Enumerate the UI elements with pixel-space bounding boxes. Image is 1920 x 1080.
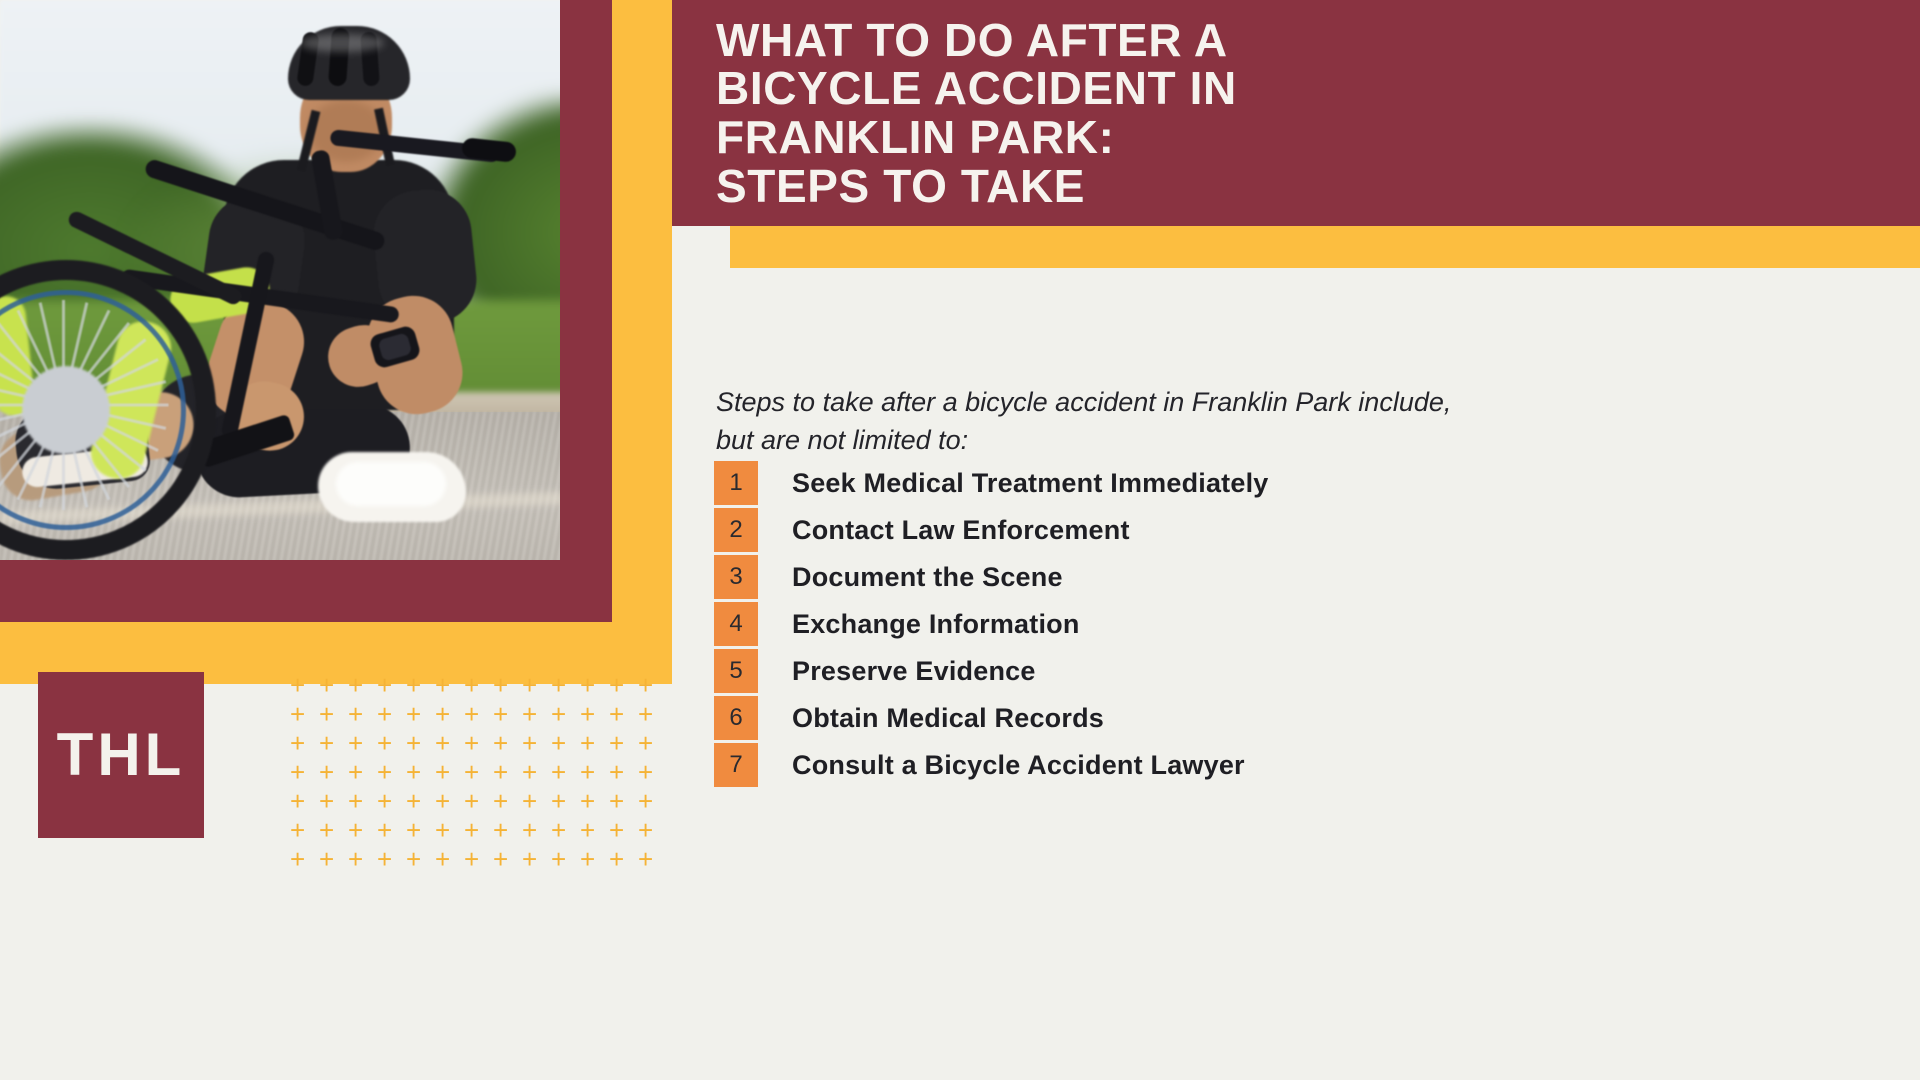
plus-glyph: + <box>348 701 363 727</box>
plus-glyph: + <box>580 701 595 727</box>
plus-glyph: + <box>609 759 624 785</box>
plus-glyph: + <box>522 730 537 756</box>
plus-glyph: + <box>435 788 450 814</box>
step-label: Seek Medical Treatment Immediately <box>792 468 1269 499</box>
page-title: WHAT TO DO AFTER ABICYCLE ACCIDENT INFRA… <box>716 16 1237 211</box>
plus-glyph: + <box>348 817 363 843</box>
plus-glyph: + <box>493 759 508 785</box>
intro-paragraph: Steps to take after a bicycle accident i… <box>716 383 1476 460</box>
plus-glyph: + <box>319 846 334 872</box>
plus-glyph: + <box>580 759 595 785</box>
plus-glyph: + <box>406 846 421 872</box>
thl-logo[interactable]: THL <box>38 672 204 838</box>
step-number-badge: 3 <box>714 555 758 599</box>
plus-glyph: + <box>290 672 305 698</box>
plus-glyph: + <box>522 672 537 698</box>
plus-glyph: + <box>609 672 624 698</box>
plus-glyph: + <box>435 759 450 785</box>
plus-glyph: + <box>522 759 537 785</box>
plus-glyph: + <box>319 817 334 843</box>
plus-glyph: + <box>638 788 653 814</box>
plus-glyph: + <box>435 817 450 843</box>
plus-glyph: + <box>435 730 450 756</box>
step-number-badge: 4 <box>714 602 758 646</box>
plus-glyph: + <box>609 846 624 872</box>
step-item[interactable]: 1Seek Medical Treatment Immediately <box>714 460 1814 506</box>
plus-glyph: + <box>464 846 479 872</box>
bike-wheel-hub <box>22 366 110 454</box>
plus-glyph: + <box>464 817 479 843</box>
plus-glyph: + <box>464 788 479 814</box>
page-title-line-2: BICYCLE ACCIDENT IN <box>716 64 1237 113</box>
plus-glyph: + <box>435 846 450 872</box>
plus-glyph: + <box>435 672 450 698</box>
plus-glyph: + <box>580 672 595 698</box>
title-accent-bar <box>730 226 1920 268</box>
plus-glyph: + <box>609 788 624 814</box>
plus-glyph: + <box>580 817 595 843</box>
plus-glyph: + <box>551 672 566 698</box>
title-banner: WHAT TO DO AFTER ABICYCLE ACCIDENT INFRA… <box>672 0 1920 226</box>
thl-logo-text: THL <box>57 725 186 785</box>
plus-glyph: + <box>377 846 392 872</box>
plus-glyph: + <box>522 817 537 843</box>
step-item[interactable]: 4Exchange Information <box>714 601 1814 647</box>
plus-glyph: + <box>406 788 421 814</box>
plus-glyph: + <box>377 788 392 814</box>
plus-glyph: + <box>638 817 653 843</box>
plus-glyph: + <box>348 846 363 872</box>
plus-glyph: + <box>290 817 305 843</box>
step-number-badge: 7 <box>714 743 758 787</box>
plus-glyph: + <box>377 817 392 843</box>
plus-glyph: + <box>493 730 508 756</box>
page-title-line-1: WHAT TO DO AFTER A <box>716 16 1237 65</box>
plus-glyph: + <box>493 846 508 872</box>
plus-glyph: + <box>377 730 392 756</box>
step-item[interactable]: 6Obtain Medical Records <box>714 695 1814 741</box>
plus-glyph: + <box>493 672 508 698</box>
plus-glyph: + <box>551 759 566 785</box>
plus-glyph: + <box>319 788 334 814</box>
step-item[interactable]: 5Preserve Evidence <box>714 648 1814 694</box>
step-number-badge: 1 <box>714 461 758 505</box>
plus-glyph: + <box>551 730 566 756</box>
plus-glyph: + <box>348 672 363 698</box>
step-label: Contact Law Enforcement <box>792 515 1130 546</box>
plus-glyph: + <box>464 701 479 727</box>
plus-glyph: + <box>290 846 305 872</box>
plus-glyph: + <box>638 672 653 698</box>
plus-glyph: + <box>319 730 334 756</box>
plus-glyph: + <box>580 788 595 814</box>
plus-glyph: + <box>319 672 334 698</box>
step-item[interactable]: 2Contact Law Enforcement <box>714 507 1814 553</box>
plus-glyph: + <box>609 817 624 843</box>
plus-glyph: + <box>551 788 566 814</box>
plus-glyph: + <box>493 817 508 843</box>
plus-glyph: + <box>348 730 363 756</box>
plus-glyph: + <box>406 672 421 698</box>
plus-glyph: + <box>522 701 537 727</box>
plus-glyph: + <box>493 788 508 814</box>
plus-glyph: + <box>638 846 653 872</box>
plus-glyph: + <box>609 701 624 727</box>
page-title-line-3: FRANKLIN PARK: <box>716 113 1237 162</box>
photo-frame-bar-yellow-vertical <box>612 0 672 622</box>
plus-glyph: + <box>406 759 421 785</box>
bike-top-tube <box>143 158 386 252</box>
infographic-canvas: THL ++++++++++++++++++++++++++++++++++++… <box>0 0 1920 1080</box>
step-item[interactable]: 7Consult a Bicycle Accident Lawyer <box>714 742 1814 788</box>
plus-glyph: + <box>290 730 305 756</box>
steps-list: 1Seek Medical Treatment Immediately2Cont… <box>714 460 1814 789</box>
photo-frame-bar-maroon-bottom <box>0 560 672 622</box>
plus-glyph: + <box>580 846 595 872</box>
plus-glyph: + <box>319 701 334 727</box>
plus-pattern-decoration: ++++++++++++++++++++++++++++++++++++++++… <box>290 672 658 872</box>
plus-glyph: + <box>638 759 653 785</box>
plus-glyph: + <box>522 788 537 814</box>
step-label: Exchange Information <box>792 609 1080 640</box>
step-number-badge: 6 <box>714 696 758 740</box>
plus-glyph: + <box>435 701 450 727</box>
plus-glyph: + <box>377 701 392 727</box>
step-number-badge: 5 <box>714 649 758 693</box>
plus-glyph: + <box>348 788 363 814</box>
plus-glyph: + <box>406 817 421 843</box>
plus-glyph: + <box>290 759 305 785</box>
plus-glyph: + <box>464 730 479 756</box>
plus-glyph: + <box>551 817 566 843</box>
step-label: Obtain Medical Records <box>792 703 1104 734</box>
step-item[interactable]: 3Document the Scene <box>714 554 1814 600</box>
step-number-badge: 2 <box>714 508 758 552</box>
plus-glyph: + <box>406 730 421 756</box>
plus-glyph: + <box>551 846 566 872</box>
plus-glyph: + <box>522 846 537 872</box>
plus-glyph: + <box>377 672 392 698</box>
plus-glyph: + <box>348 759 363 785</box>
step-label: Document the Scene <box>792 562 1063 593</box>
plus-glyph: + <box>319 759 334 785</box>
plus-glyph: + <box>638 730 653 756</box>
step-label: Consult a Bicycle Accident Lawyer <box>792 750 1245 781</box>
plus-glyph: + <box>290 788 305 814</box>
plus-glyph: + <box>464 672 479 698</box>
plus-glyph: + <box>493 701 508 727</box>
plus-glyph: + <box>290 701 305 727</box>
step-label: Preserve Evidence <box>792 656 1036 687</box>
plus-glyph: + <box>377 759 392 785</box>
plus-glyph: + <box>551 701 566 727</box>
plus-glyph: + <box>638 701 653 727</box>
plus-glyph: + <box>406 701 421 727</box>
plus-glyph: + <box>609 730 624 756</box>
plus-glyph: + <box>464 759 479 785</box>
plus-glyph: + <box>580 730 595 756</box>
page-title-line-4: STEPS TO TAKE <box>716 162 1237 211</box>
